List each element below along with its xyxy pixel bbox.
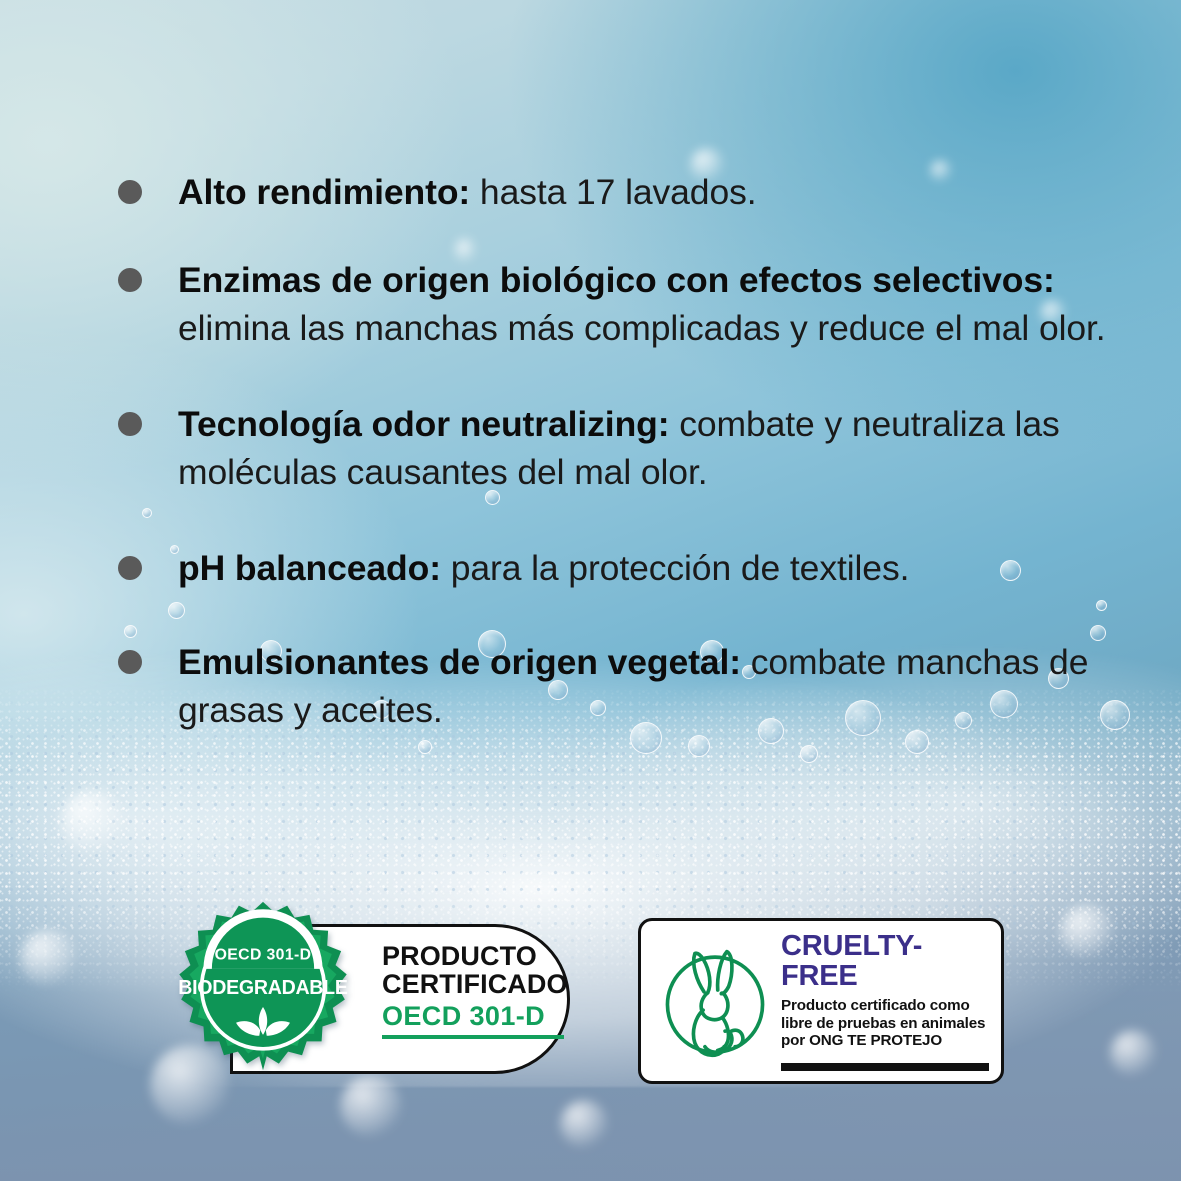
benefit-item-ph-balanceado: pH balanceado: para la protección de tex… xyxy=(118,544,1128,592)
benefit-bold-label: Enzimas de origen biológico con efectos … xyxy=(178,260,1055,300)
benefit-item-enzimas-biologicas: Enzimas de origen biológico con efectos … xyxy=(118,256,1128,352)
badge-biodegradable: PRODUCTO CERTIFICADO OECD 301-D xyxy=(170,900,590,1095)
benefit-item-odor-neutralizing: Tecnología odor neutralizing: combate y … xyxy=(118,400,1128,496)
promo-canvas: Alto rendimiento: hasta 17 lavados. Enzi… xyxy=(0,0,1181,1181)
benefit-bold-label: Tecnología odor neutralizing: xyxy=(178,404,669,444)
benefit-text: Alto rendimiento: hasta 17 lavados. xyxy=(178,168,1128,216)
benefit-text: Enzimas de origen biológico con efectos … xyxy=(178,256,1128,352)
cruelty-free-sub-line2: libre de pruebas en animales xyxy=(781,1015,989,1033)
certification-badges: PRODUCTO CERTIFICADO OECD 301-D xyxy=(0,900,1181,1100)
bullet-dot-icon xyxy=(118,180,142,204)
benefit-description: para la protección de textiles. xyxy=(441,548,909,588)
pill-underline xyxy=(382,1035,564,1039)
pill-line-producto: PRODUCTO xyxy=(382,942,582,970)
benefit-item-emulsionantes-vegetales: Emulsionantes de origen vegetal: combate… xyxy=(118,638,1128,734)
seal-main-label: BIODEGRADABLE xyxy=(178,977,347,999)
benefit-bold-label: pH balanceado: xyxy=(178,548,441,588)
benefit-text: Emulsionantes de origen vegetal: combate… xyxy=(178,638,1128,734)
benefit-description: hasta 17 lavados. xyxy=(470,172,756,212)
benefit-text: Tecnología odor neutralizing: combate y … xyxy=(178,400,1128,496)
seal-top-label: OECD 301-D xyxy=(215,947,312,964)
cruelty-free-sub-line1: Producto certificado como xyxy=(781,997,989,1015)
cruelty-free-title: CRUELTY-FREE xyxy=(781,931,989,991)
benefit-text: pH balanceado: para la protección de tex… xyxy=(178,544,1128,592)
bullet-dot-icon xyxy=(118,556,142,580)
bullet-dot-icon xyxy=(118,650,142,674)
pill-line-oecd: OECD 301-D xyxy=(382,998,582,1032)
cruelty-free-subtext: Producto certificado como libre de prueb… xyxy=(781,997,989,1050)
cruelty-free-underline xyxy=(781,1063,989,1071)
benefit-bold-label: Alto rendimiento: xyxy=(178,172,470,212)
badge-cruelty-free: CRUELTY-FREE Producto certificado como l… xyxy=(638,918,1004,1084)
pill-line-certificado: CERTIFICADO xyxy=(382,970,582,998)
cruelty-free-text: CRUELTY-FREE Producto certificado como l… xyxy=(779,931,1001,1071)
biodegradable-pill-text: PRODUCTO CERTIFICADO OECD 301-D xyxy=(382,942,582,1039)
cruelty-free-sub-line3: por ONG TE PROTEJO xyxy=(781,1032,989,1050)
benefits-list: Alto rendimiento: hasta 17 lavados. Enzi… xyxy=(118,168,1128,734)
bullet-dot-icon xyxy=(118,268,142,292)
biodegradable-seal-icon: OECD 301-D BIODEGRADABLE xyxy=(170,900,356,1086)
benefit-description: elimina las manchas más complicadas y re… xyxy=(178,308,1106,348)
rabbit-icon xyxy=(651,937,779,1065)
benefit-item-alto-rendimiento: Alto rendimiento: hasta 17 lavados. xyxy=(118,168,1128,216)
benefit-bold-label: Emulsionantes de origen vegetal: xyxy=(178,642,741,682)
bullet-dot-icon xyxy=(118,412,142,436)
